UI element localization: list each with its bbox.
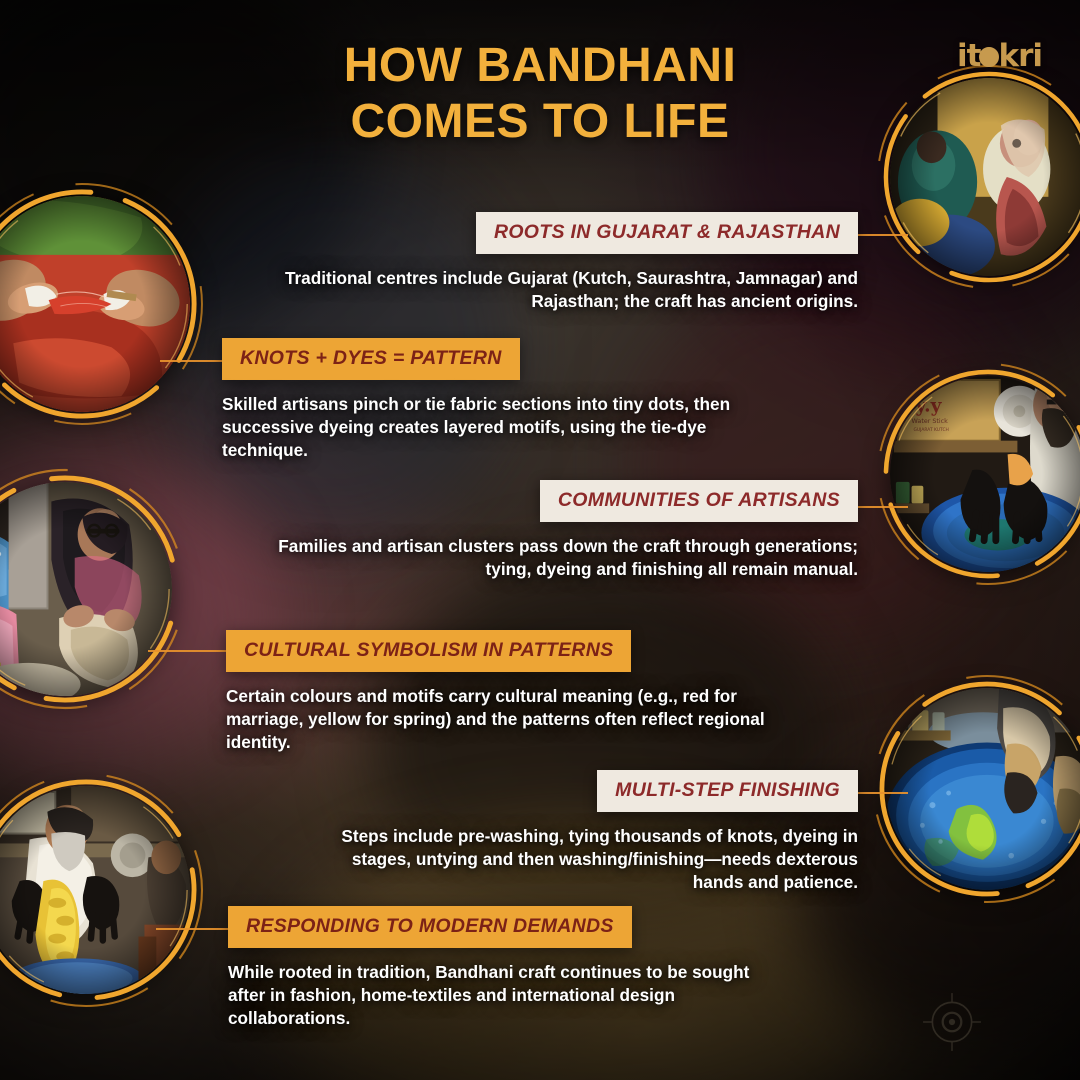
photo-disc: [0, 196, 190, 412]
connector-line-modern: [156, 928, 228, 930]
photo-hands-tying-red-fabric[interactable]: [0, 196, 190, 412]
brand-logo-text-first: it: [957, 38, 980, 74]
photo-image: [0, 196, 190, 412]
page-title-line-2: COMES TO LIFE: [0, 94, 1080, 150]
section-knots-dyes-body: Skilled artisans pinch or tie fabric sec…: [222, 393, 752, 462]
photo-disc: y.y Water Stick GUJARAT KUTCH: [890, 376, 1080, 572]
section-finishing: MULTI-STEP FINISHING Steps include pre-w…: [300, 770, 858, 894]
section-communities-body: Families and artisan clusters pass down …: [238, 535, 858, 581]
photo-woman-tying-cream-cloth[interactable]: [0, 482, 172, 696]
section-modern-demands-body: While rooted in tradition, Bandhani craf…: [228, 961, 788, 1030]
photo-dyer-lifting-yellow-cloth[interactable]: [0, 786, 190, 994]
photo-image: [886, 688, 1080, 890]
fabric-motif-icon: [921, 991, 983, 1053]
photo-image: y.y Water Stick GUJARAT KUTCH: [890, 376, 1080, 572]
photo-image: [0, 786, 190, 994]
section-roots-body: Traditional centres include Gujarat (Kut…: [258, 267, 858, 313]
section-symbolism-badge: CULTURAL SYMBOLISM IN PATTERNS: [226, 630, 631, 672]
section-finishing-badge: MULTI-STEP FINISHING: [597, 770, 858, 812]
section-communities: COMMUNITIES OF ARTISANS Families and art…: [238, 480, 858, 581]
photo-dyer-at-blue-dye-vat[interactable]: y.y Water Stick GUJARAT KUTCH: [890, 376, 1080, 572]
photo-fabric-dipped-in-dye-vat[interactable]: [886, 688, 1080, 890]
photo-disc: [0, 482, 172, 696]
photo-disc: [886, 688, 1080, 890]
connector-line-symbolism: [148, 650, 226, 652]
brand-logo-text-last: kri: [998, 38, 1042, 74]
page-title: HOW BANDHANI COMES TO LIFE: [0, 38, 1080, 149]
section-modern-demands-badge: RESPONDING TO MODERN DEMANDS: [228, 906, 632, 948]
section-communities-badge: COMMUNITIES OF ARTISANS: [540, 480, 858, 522]
section-finishing-body: Steps include pre-washing, tying thousan…: [300, 825, 858, 894]
section-modern-demands: RESPONDING TO MODERN DEMANDS While roote…: [228, 906, 788, 1030]
photo-image: [0, 482, 172, 696]
photo-disc: [0, 786, 190, 994]
section-knots-dyes: KNOTS + DYES = PATTERN Skilled artisans …: [222, 338, 752, 462]
brand-logo[interactable]: it kri: [957, 38, 1042, 74]
section-roots: ROOTS IN GUJARAT & RAJASTHAN Traditional…: [258, 212, 858, 313]
section-knots-dyes-badge: KNOTS + DYES = PATTERN: [222, 338, 520, 380]
section-roots-badge: ROOTS IN GUJARAT & RAJASTHAN: [476, 212, 858, 254]
page-title-line-1: HOW BANDHANI: [0, 38, 1080, 94]
section-symbolism-body: Certain colours and motifs carry cultura…: [226, 685, 786, 754]
brand-logo-circle-icon: [979, 47, 999, 67]
connector-line-knots: [160, 360, 222, 362]
section-symbolism: CULTURAL SYMBOLISM IN PATTERNS Certain c…: [226, 630, 786, 754]
